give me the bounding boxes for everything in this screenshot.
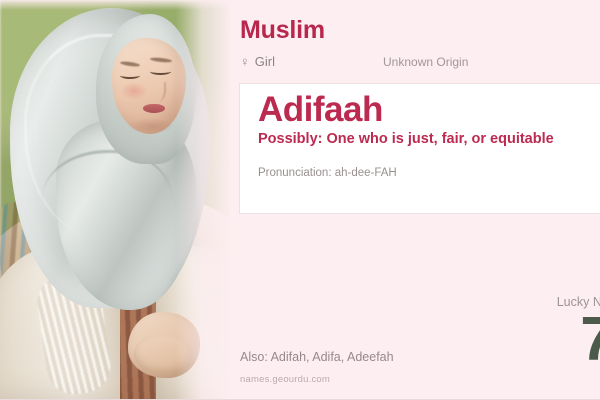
venus-female-icon: ♀ bbox=[240, 55, 250, 68]
name-heading: Adifaah bbox=[258, 90, 383, 130]
lucky-number-value: 7 bbox=[532, 311, 600, 370]
content-pane: Muslim ♀ Girl Unknown Origin Adifaah Pos… bbox=[232, 0, 600, 400]
eye-left bbox=[120, 72, 140, 79]
lips bbox=[143, 104, 165, 113]
name-meaning: Possibly: One who is just, fair, or equi… bbox=[258, 131, 584, 149]
cheek-blush bbox=[120, 82, 148, 100]
origin-label: Unknown Origin bbox=[383, 55, 468, 69]
gender-label: Girl bbox=[255, 54, 275, 69]
alternate-spellings: Also: Adifah, Adifa, Adeefah bbox=[240, 350, 394, 364]
name-info-card: Muslim ♀ Girl Unknown Origin Adifaah Pos… bbox=[0, 0, 600, 400]
chin-shadow bbox=[128, 118, 174, 134]
portrait-right-fade bbox=[176, 0, 232, 400]
name-pronunciation: Pronunciation: ah-dee-FAH bbox=[258, 167, 397, 179]
hijab-fold-lower bbox=[42, 150, 172, 273]
eye-right bbox=[150, 68, 171, 75]
gender-group: ♀ Girl bbox=[240, 54, 275, 69]
meta-row: ♀ Girl Unknown Origin bbox=[240, 54, 600, 72]
lucky-number-block: Lucky Number 7 bbox=[532, 296, 600, 369]
name-detail-card: Adifaah Possibly: One who is just, fair,… bbox=[240, 84, 600, 213]
religion-title: Muslim bbox=[240, 18, 325, 43]
source-site-label: names.geourdu.com bbox=[240, 374, 330, 385]
portrait-pane bbox=[0, 0, 232, 400]
